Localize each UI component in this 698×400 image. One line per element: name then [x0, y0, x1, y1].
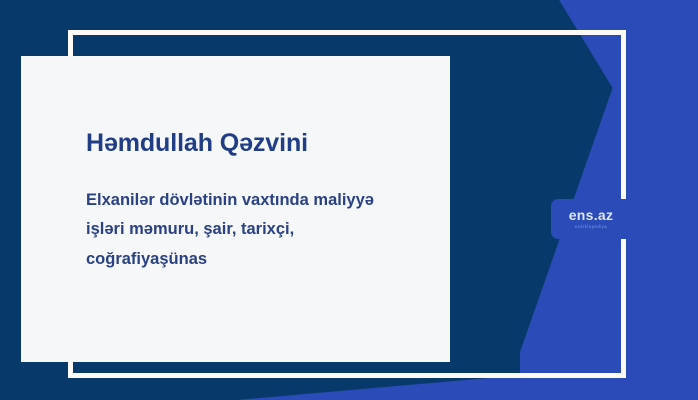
logo-tagline: ensiklopediya	[575, 225, 608, 229]
slide-canvas: Həmdullah Qəzvini Elxanilər dövlətinin v…	[0, 0, 698, 400]
page-title: Həmdullah Qəzvini	[86, 128, 426, 158]
logo-wordmark: ens.az	[569, 208, 614, 222]
content-card: Həmdullah Qəzvini Elxanilər dövlətinin v…	[21, 56, 450, 362]
content-card-body: Həmdullah Qəzvini Elxanilər dövlətinin v…	[86, 128, 426, 274]
page-subtitle: Elxanilər dövlətinin vaxtında maliyyə iş…	[86, 158, 416, 274]
ens-az-logo-badge[interactable]: ens.az ensiklopediya	[551, 199, 635, 239]
